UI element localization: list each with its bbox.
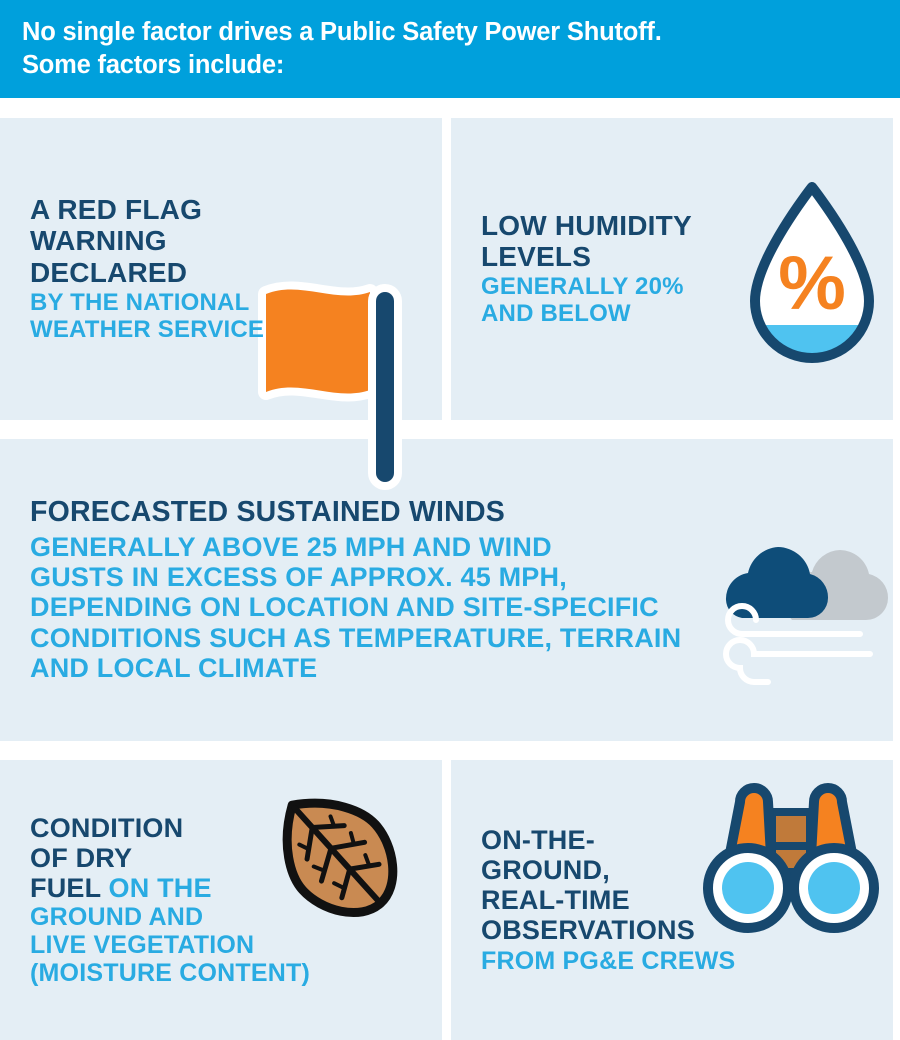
sub-line: AND LOCAL CLIMATE <box>30 653 681 683</box>
headline-line: LOW HUMIDITY <box>481 210 692 241</box>
sub-line: GUSTS IN EXCESS OF APPROX. 45 MPH, <box>30 562 681 592</box>
headline-line: GROUND, <box>481 855 735 885</box>
headline-line: A RED FLAG <box>30 194 264 225</box>
card-ground-observations-headline: ON-THE- GROUND, REAL-TIME OBSERVATIONS <box>481 825 735 946</box>
card-low-humidity: LOW HUMIDITY LEVELS GENERALLY 20% AND BE… <box>451 118 893 420</box>
card-red-flag-warning: A RED FLAG WARNING DECLARED BY THE NATIO… <box>0 118 442 420</box>
headline-fragment: FUEL <box>30 873 101 903</box>
headline-line: WARNING <box>30 225 264 256</box>
card-dry-fuel-subtext: GROUND AND LIVE VEGETATION (MOISTURE CON… <box>30 903 310 987</box>
sub-line: WEATHER SERVICE <box>30 317 264 344</box>
sub-line: DEPENDING ON LOCATION AND SITE-SPECIFIC <box>30 592 681 622</box>
water-droplet-percent-icon: % <box>747 173 877 373</box>
sub-line: FROM PG&E CREWS <box>481 947 735 975</box>
sub-line: CONDITIONS SUCH AS TEMPERATURE, TERRAIN <box>30 623 681 653</box>
card-low-humidity-text: LOW HUMIDITY LEVELS GENERALLY 20% AND BE… <box>451 210 698 328</box>
factor-cards-grid: A RED FLAG WARNING DECLARED BY THE NATIO… <box>0 98 900 1040</box>
card-row-2: FORECASTED SUSTAINED WINDS GENERALLY ABO… <box>0 439 893 741</box>
card-dry-fuel-text: CONDITION OF DRY FUEL ON THE GROUND AND … <box>0 813 316 988</box>
headline-mixed-line: FUEL ON THE <box>30 873 310 903</box>
sub-line: (MOISTURE CONTENT) <box>30 959 310 987</box>
card-ground-observations-subtext: FROM PG&E CREWS <box>481 947 735 975</box>
card-low-humidity-headline: LOW HUMIDITY LEVELS <box>481 210 692 273</box>
sub-line: GENERALLY 20% <box>481 274 692 301</box>
percent-glyph: % <box>778 241 846 326</box>
sub-line: BY THE NATIONAL <box>30 290 264 317</box>
card-forecasted-winds: FORECASTED SUSTAINED WINDS GENERALLY ABO… <box>0 439 893 741</box>
card-row-3: CONDITION OF DRY FUEL ON THE GROUND AND … <box>0 760 893 1040</box>
card-red-flag-subtext: BY THE NATIONAL WEATHER SERVICE <box>30 290 264 344</box>
wind-cloud-icon <box>710 514 900 699</box>
card-row-1: A RED FLAG WARNING DECLARED BY THE NATIO… <box>0 118 893 420</box>
headline-line: LEVELS <box>481 241 692 272</box>
header-title-line-1: No single factor drives a Public Safety … <box>22 16 880 49</box>
header-title-line-2: Some factors include: <box>22 49 880 82</box>
page-header: No single factor drives a Public Safety … <box>0 0 900 98</box>
headline-line: DECLARED <box>30 257 264 288</box>
card-red-flag-text: A RED FLAG WARNING DECLARED BY THE NATIO… <box>0 194 270 344</box>
card-ground-observations-text: ON-THE- GROUND, REAL-TIME OBSERVATIONS F… <box>451 825 741 976</box>
sub-line: GENERALLY ABOVE 25 MPH AND WIND <box>30 532 681 562</box>
headline-line: OBSERVATIONS <box>481 915 735 945</box>
card-dry-fuel: CONDITION OF DRY FUEL ON THE GROUND AND … <box>0 760 442 1040</box>
card-forecasted-winds-headline: FORECASTED SUSTAINED WINDS <box>30 497 681 529</box>
sub-fragment: ON THE <box>101 873 212 903</box>
headline-line: ON-THE- <box>481 825 735 855</box>
headline-line: REAL-TIME <box>481 885 735 915</box>
card-forecasted-winds-text: FORECASTED SUSTAINED WINDS GENERALLY ABO… <box>0 497 687 683</box>
sub-line: AND BELOW <box>481 301 692 328</box>
card-red-flag-headline: A RED FLAG WARNING DECLARED <box>30 194 264 288</box>
sub-line: LIVE VEGETATION <box>30 931 310 959</box>
card-dry-fuel-headline: CONDITION OF DRY FUEL ON THE <box>30 813 310 904</box>
sub-line: GROUND AND <box>30 903 310 931</box>
headline-line: OF DRY <box>30 843 310 873</box>
headline-line: FORECASTED SUSTAINED WINDS <box>30 497 681 529</box>
card-ground-observations: ON-THE- GROUND, REAL-TIME OBSERVATIONS F… <box>451 760 893 1040</box>
card-low-humidity-subtext: GENERALLY 20% AND BELOW <box>481 274 692 328</box>
headline-line: CONDITION <box>30 813 310 843</box>
card-forecasted-winds-subtext: GENERALLY ABOVE 25 MPH AND WIND GUSTS IN… <box>30 532 681 683</box>
